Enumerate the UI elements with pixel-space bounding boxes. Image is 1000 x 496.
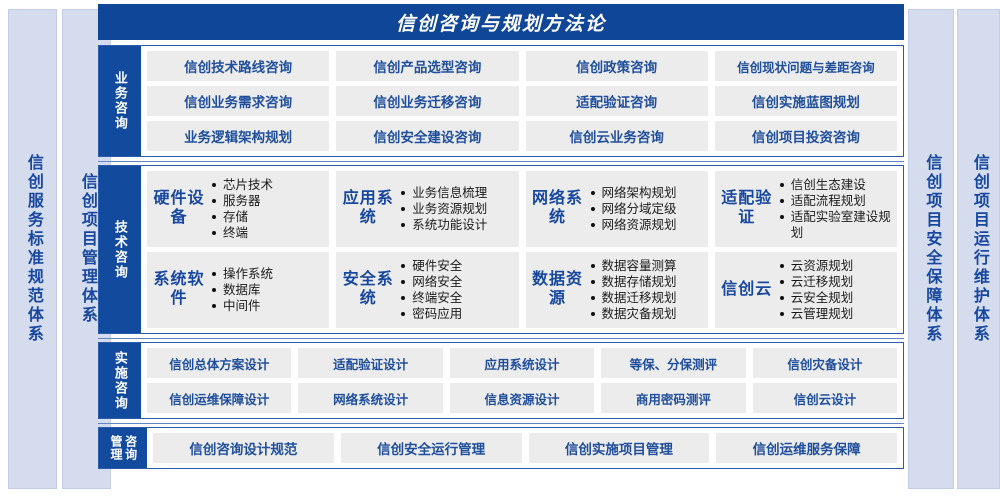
card-title: 应用系统 <box>342 190 394 228</box>
chip-item[interactable]: 信创运维保障设计 <box>147 383 291 413</box>
section-label-text: 业务咨询 <box>113 71 127 131</box>
chip-item[interactable]: 适配验证咨询 <box>526 86 708 116</box>
card-list: 数据容量测算 数据存储规划 数据迁移规划 数据灾备规划 <box>588 258 702 322</box>
card-data-resources[interactable]: 数据资源 数据容量测算 数据存储规划 数据迁移规划 数据灾备规划 <box>526 252 708 328</box>
card-row: 硬件设备 芯片技术 服务器 存储 终端 应用系统 业务信息梳理 业务资源规划 <box>147 171 897 247</box>
card-hardware-devices[interactable]: 硬件设备 芯片技术 服务器 存储 终端 <box>147 171 329 247</box>
card-list-item: 数据库 <box>211 282 323 298</box>
card-system-software[interactable]: 系统软件 操作系统 数据库 中间件 <box>147 252 329 328</box>
chip-item[interactable]: 信创安全建设咨询 <box>336 121 518 151</box>
section-divider <box>98 338 904 339</box>
section-label-management: 咨询 管理 <box>99 428 147 468</box>
chip-row: 业务逻辑架构规划 信创安全建设咨询 信创云业务咨询 信创项目投资咨询 <box>147 121 897 151</box>
chip-row: 信创运维保障设计 网络系统设计 信息资源设计 商用密码测评 信创云设计 <box>147 383 897 413</box>
pillar-label: 信创项目运行维护体系 <box>970 154 987 344</box>
chip-row: 信创技术路线咨询 信创产品选型咨询 信创政策咨询 信创现状问题与差距咨询 <box>147 51 897 81</box>
pillar-project-ops-system: 信创项目运行维护体系 <box>957 9 1000 489</box>
card-list-item: 终端 <box>211 225 323 241</box>
diagram-title: 信创咨询与规划方法论 <box>396 9 606 36</box>
card-list-item: 数据灾备规划 <box>590 306 702 322</box>
card-list: 信创生态建设 适配流程规划 适配实验室建设规划 <box>777 177 891 241</box>
chip-item[interactable]: 信创现状问题与差距咨询 <box>715 51 897 81</box>
card-list-item: 数据迁移规划 <box>590 290 702 306</box>
card-application-system[interactable]: 应用系统 业务信息梳理 业务资源规划 系统功能设计 <box>336 171 518 247</box>
card-title: 信创云 <box>721 281 773 300</box>
chip-item[interactable]: 网络系统设计 <box>298 383 442 413</box>
card-title: 系统软件 <box>153 271 205 309</box>
card-list-item: 网络分域定级 <box>590 201 702 217</box>
section-label-implementation: 实施咨询 <box>99 343 141 418</box>
section-label-technical: 技术咨询 <box>99 166 141 333</box>
card-title: 适配验证 <box>721 190 773 228</box>
card-list-item: 系统功能设计 <box>400 217 512 233</box>
card-list-item: 数据容量测算 <box>590 258 702 274</box>
card-list: 芯片技术 服务器 存储 终端 <box>209 177 323 241</box>
card-list-item: 服务器 <box>211 193 323 209</box>
chip-item[interactable]: 信创安全运行管理 <box>341 433 522 463</box>
pillar-project-security-system: 信创项目安全保障体系 <box>908 9 954 489</box>
card-list: 业务信息梳理 业务资源规划 系统功能设计 <box>398 185 512 233</box>
chip-item[interactable]: 信息资源设计 <box>450 383 594 413</box>
chip-item[interactable]: 信创灾备设计 <box>753 348 897 378</box>
section-business-consulting: 业务咨询 信创技术路线咨询 信创产品选型咨询 信创政策咨询 信创现状问题与差距咨… <box>98 45 904 157</box>
pillar-label: 信创项目安全保障体系 <box>923 154 940 344</box>
section-body-management: 信创咨询设计规范 信创安全运行管理 信创实施项目管理 信创运维服务保障 <box>147 428 903 468</box>
card-list-item: 硬件安全 <box>400 258 512 274</box>
card-list-item: 网络安全 <box>400 274 512 290</box>
card-list-item: 适配流程规划 <box>779 193 891 209</box>
card-list-item: 操作系统 <box>211 266 323 282</box>
chip-item[interactable]: 信创业务迁移咨询 <box>336 86 518 116</box>
card-list: 网络架构规划 网络分域定级 网络资源规划 <box>588 185 702 233</box>
section-consulting-management: 咨询 管理 信创咨询设计规范 信创安全运行管理 信创实施项目管理 信创运维服务保… <box>98 427 904 469</box>
diagram-title-bar: 信创咨询与规划方法论 <box>98 4 904 40</box>
card-list-item: 存储 <box>211 209 323 225</box>
chip-item[interactable]: 信创运维服务保障 <box>716 433 897 463</box>
card-list-item: 云安全规划 <box>779 290 891 306</box>
card-network-system[interactable]: 网络系统 网络架构规划 网络分域定级 网络资源规划 <box>526 171 708 247</box>
pillar-label: 信创服务标准规范体系 <box>24 154 41 344</box>
card-title: 硬件设备 <box>153 190 205 228</box>
card-list-item: 终端安全 <box>400 290 512 306</box>
section-technical-consulting: 技术咨询 硬件设备 芯片技术 服务器 存储 终端 应用系统 <box>98 165 904 334</box>
card-xinchuang-cloud[interactable]: 信创云 云资源规划 云迁移规划 云安全规划 云管理规划 <box>715 252 897 328</box>
card-list-item: 云资源规划 <box>779 258 891 274</box>
diagram-canvas: 信创服务标准规范体系 信创项目管理体系 信创项目安全保障体系 信创项目运行维护体… <box>0 0 1000 496</box>
card-list: 操作系统 数据库 中间件 <box>209 266 323 314</box>
section-body-technical: 硬件设备 芯片技术 服务器 存储 终端 应用系统 业务信息梳理 业务资源规划 <box>141 166 903 333</box>
section-label-text: 实施咨询 <box>113 351 127 411</box>
section-label-text-b: 管理 <box>109 435 122 461</box>
chip-item[interactable]: 信创咨询设计规范 <box>153 433 334 463</box>
section-divider <box>98 161 904 162</box>
card-list-item: 适配实验室建设规划 <box>779 209 891 241</box>
card-list-item: 数据存储规划 <box>590 274 702 290</box>
chip-item[interactable]: 信创云设计 <box>753 383 897 413</box>
card-security-system[interactable]: 安全系统 硬件安全 网络安全 终端安全 密码应用 <box>336 252 518 328</box>
card-title: 安全系统 <box>342 271 394 309</box>
chip-item[interactable]: 信创实施蓝图规划 <box>715 86 897 116</box>
section-label-text-a: 咨询 <box>124 435 137 461</box>
card-list-item: 业务资源规划 <box>400 201 512 217</box>
pillar-service-standard-system: 信创服务标准规范体系 <box>8 9 57 489</box>
card-adaptation-verification[interactable]: 适配验证 信创生态建设 适配流程规划 适配实验室建设规划 <box>715 171 897 247</box>
section-body-implementation: 信创总体方案设计 适配验证设计 应用系统设计 等保、分保测评 信创灾备设计 信创… <box>141 343 903 418</box>
chip-row: 信创总体方案设计 适配验证设计 应用系统设计 等保、分保测评 信创灾备设计 <box>147 348 897 378</box>
section-label-text: 技术咨询 <box>113 220 127 280</box>
card-list-item: 网络架构规划 <box>590 185 702 201</box>
card-list-item: 云管理规划 <box>779 306 891 322</box>
chip-item[interactable]: 信创技术路线咨询 <box>147 51 329 81</box>
main-column: 信创咨询与规划方法论 业务咨询 信创技术路线咨询 信创产品选型咨询 信创政策咨询… <box>98 4 904 492</box>
card-list-item: 信创生态建设 <box>779 177 891 193</box>
section-divider <box>98 423 904 424</box>
card-list-item: 网络资源规划 <box>590 217 702 233</box>
chip-item[interactable]: 信创业务需求咨询 <box>147 86 329 116</box>
chip-item[interactable]: 适配验证设计 <box>298 348 442 378</box>
chip-item[interactable]: 应用系统设计 <box>450 348 594 378</box>
chip-row: 信创咨询设计规范 信创安全运行管理 信创实施项目管理 信创运维服务保障 <box>153 433 897 463</box>
section-label-business: 业务咨询 <box>99 46 141 156</box>
pillar-label: 信创项目管理体系 <box>78 173 95 325</box>
card-row: 系统软件 操作系统 数据库 中间件 安全系统 硬件安全 网络安全 终端安全 <box>147 252 897 328</box>
chip-item[interactable]: 商用密码测评 <box>601 383 745 413</box>
card-list-item: 中间件 <box>211 298 323 314</box>
chip-item[interactable]: 等保、分保测评 <box>601 348 745 378</box>
card-list-item: 云迁移规划 <box>779 274 891 290</box>
card-list-item: 业务信息梳理 <box>400 185 512 201</box>
card-list: 云资源规划 云迁移规划 云安全规划 云管理规划 <box>777 258 891 322</box>
section-implementation-consulting: 实施咨询 信创总体方案设计 适配验证设计 应用系统设计 等保、分保测评 信创灾备… <box>98 342 904 419</box>
section-body-business: 信创技术路线咨询 信创产品选型咨询 信创政策咨询 信创现状问题与差距咨询 信创业… <box>141 46 903 156</box>
chip-item[interactable]: 信创总体方案设计 <box>147 348 291 378</box>
card-title: 网络系统 <box>532 190 584 228</box>
chip-item[interactable]: 信创实施项目管理 <box>529 433 710 463</box>
card-list-item: 芯片技术 <box>211 177 323 193</box>
chip-item[interactable]: 信创项目投资咨询 <box>715 121 897 151</box>
chip-row: 信创业务需求咨询 信创业务迁移咨询 适配验证咨询 信创实施蓝图规划 <box>147 86 897 116</box>
card-list-item: 密码应用 <box>400 306 512 322</box>
chip-item[interactable]: 信创政策咨询 <box>526 51 708 81</box>
card-list: 硬件安全 网络安全 终端安全 密码应用 <box>398 258 512 322</box>
chip-item[interactable]: 业务逻辑架构规划 <box>147 121 329 151</box>
card-title: 数据资源 <box>532 271 584 309</box>
chip-item[interactable]: 信创云业务咨询 <box>526 121 708 151</box>
chip-item[interactable]: 信创产品选型咨询 <box>336 51 518 81</box>
